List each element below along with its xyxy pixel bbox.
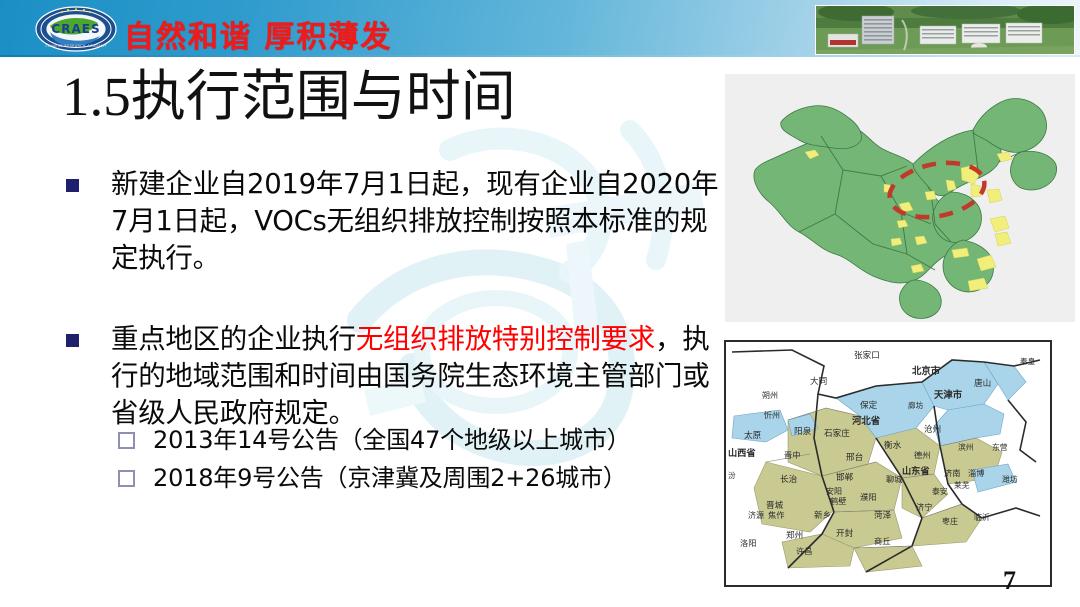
sub-bullet-marker-hollow-square-icon	[118, 432, 135, 449]
svg-text:天津市: 天津市	[934, 389, 963, 401]
campus-photo	[815, 5, 1075, 55]
svg-text:阳泉: 阳泉	[794, 425, 812, 437]
svg-text:泰安: 泰安	[932, 486, 948, 496]
svg-text:济宁: 济宁	[916, 502, 932, 512]
svg-text:汾: 汾	[728, 471, 736, 480]
bullet-item: 新建企业自2019年7月1日起，现有企业自2020年7月1日起，VOCs无组织排…	[63, 166, 723, 277]
bullet-segment-highlight: 无组织排放特别控制要求	[356, 323, 655, 355]
svg-text:临沂: 临沂	[974, 512, 990, 522]
svg-text:淄博: 淄博	[968, 468, 984, 478]
svg-text:新乡: 新乡	[814, 509, 831, 521]
svg-text:枣庄: 枣庄	[942, 516, 958, 526]
svg-text:邯郸: 邯郸	[836, 471, 854, 483]
bullet-list: 新建企业自2019年7月1日起，现有企业自2020年7月1日起，VOCs无组织排…	[63, 166, 723, 450]
svg-text:滨州: 滨州	[958, 442, 974, 452]
sub-bullet-item: 2018年9号公告（京津冀及周围2+26城市）	[118, 461, 733, 495]
header-slogan: 自然和谐 厚积薄发	[124, 12, 392, 56]
svg-text:聊城: 聊城	[886, 474, 902, 484]
svg-text:北京市: 北京市	[912, 365, 941, 377]
svg-text:朔州: 朔州	[762, 390, 778, 400]
bullet-text: 新建企业自2019年7月1日起，现有企业自2020年7月1日起，VOCs无组织排…	[111, 166, 723, 277]
svg-text:商丘: 商丘	[874, 536, 890, 546]
jingjinji-2plus26-map: 张家口 大同 朔州 忻州 北京市 唐山 天津市 廊坊 保定 河北省 太原 阳泉 …	[724, 340, 1052, 587]
svg-text:石家庄: 石家庄	[824, 427, 850, 439]
svg-text:郑州: 郑州	[786, 529, 803, 541]
bullet-segment: 重点地区的企业执行	[111, 323, 356, 355]
svg-text:沧州: 沧州	[924, 423, 941, 435]
svg-text:安阳: 安阳	[826, 486, 842, 496]
svg-text:山东省: 山东省	[902, 465, 930, 477]
bullet-segment: 新建企业自2019年7月1日起，现有企业自2020年7月1日起，VOCs无组织排…	[111, 168, 718, 274]
svg-text:菏泽: 菏泽	[874, 510, 892, 521]
bullet-marker-square-icon	[66, 179, 79, 192]
bullet-item: 重点地区的企业执行无组织排放特别控制要求，执行的地域范围和时间由国务院生态环境主…	[63, 321, 723, 432]
svg-text:洛阳: 洛阳	[740, 538, 756, 548]
svg-text:开封: 开封	[836, 527, 854, 539]
svg-text:东营: 东营	[992, 442, 1008, 452]
svg-text:河北省: 河北省	[852, 415, 881, 427]
page-title: 1.5执行范围与时间	[62, 66, 516, 128]
header-divider	[0, 55, 1080, 57]
sub-bullet-marker-hollow-square-icon	[118, 470, 135, 487]
svg-text:焦作: 焦作	[768, 510, 784, 520]
page-number: 7	[1003, 566, 1016, 596]
slide-canvas: CRAES CHINESE RESEARCH ACADEMY 自然和谐 厚积薄发	[0, 0, 1080, 607]
svg-text:莱芜: 莱芜	[954, 480, 970, 490]
china-national-map	[725, 74, 1075, 322]
craes-logo-icon: CRAES CHINESE RESEARCH ACADEMY	[34, 6, 118, 52]
svg-text:太原: 太原	[744, 429, 762, 441]
svg-text:潍坊: 潍坊	[1002, 474, 1018, 484]
svg-text:忻州: 忻州	[764, 410, 780, 420]
svg-text:廊坊: 廊坊	[908, 400, 924, 410]
svg-text:衡水: 衡水	[884, 439, 902, 451]
sub-bullet-list: 2013年14号公告（全国47个地级以上城市） 2018年9号公告（京津冀及周围…	[118, 423, 733, 499]
svg-text:保定: 保定	[860, 399, 878, 411]
svg-text:济源: 济源	[748, 510, 764, 520]
svg-text:邢台: 邢台	[846, 451, 863, 463]
svg-text:德州: 德州	[914, 450, 930, 460]
svg-text:晋中: 晋中	[784, 450, 800, 460]
svg-text:秦皇: 秦皇	[1020, 356, 1036, 366]
svg-text:许昌: 许昌	[796, 546, 812, 556]
header-bar: CRAES CHINESE RESEARCH ACADEMY 自然和谐 厚积薄发	[0, 0, 1080, 57]
svg-text:CRAES: CRAES	[51, 22, 100, 36]
sub-bullet-item: 2013年14号公告（全国47个地级以上城市）	[118, 423, 733, 457]
sub-bullet-text: 2013年14号公告（全国47个地级以上城市）	[153, 423, 733, 457]
svg-text:张家口: 张家口	[854, 349, 880, 361]
svg-text:长治: 长治	[780, 473, 798, 485]
svg-text:CHINESE RESEARCH ACADEMY: CHINESE RESEARCH ACADEMY	[45, 44, 107, 48]
bullet-marker-square-icon	[66, 334, 79, 347]
bullet-text: 重点地区的企业执行无组织排放特别控制要求，执行的地域范围和时间由国务院生态环境主…	[111, 321, 723, 432]
svg-text:山西省: 山西省	[728, 447, 756, 459]
svg-text:唐山: 唐山	[974, 377, 991, 389]
svg-text:大同: 大同	[810, 375, 827, 387]
sub-bullet-text: 2018年9号公告（京津冀及周围2+26城市）	[153, 461, 733, 495]
svg-text:濮阳: 濮阳	[860, 492, 876, 502]
svg-text:济南: 济南	[944, 468, 960, 478]
svg-text:鹤壁: 鹤壁	[830, 496, 846, 506]
